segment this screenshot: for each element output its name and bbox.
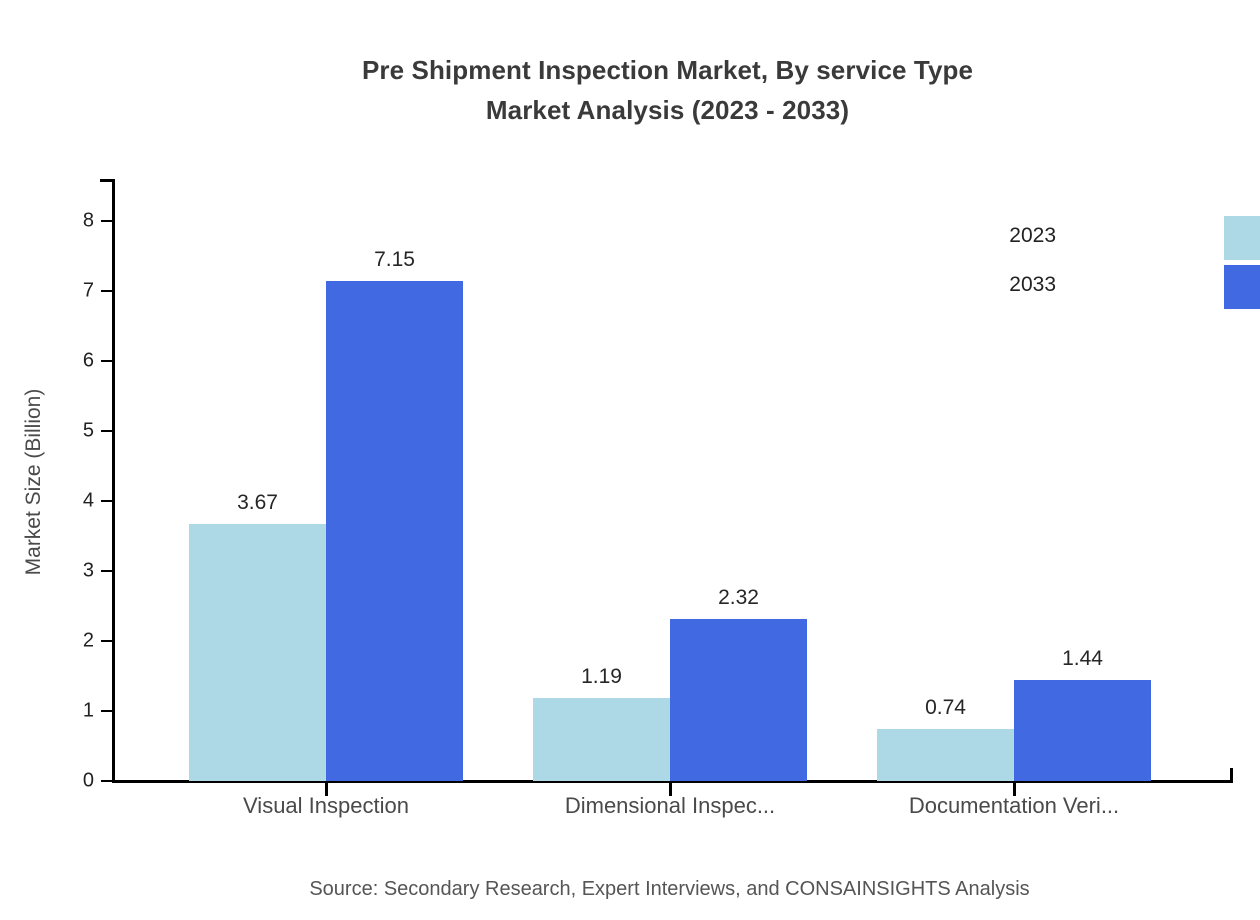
chart-title-line-1: Pre Shipment Inspection Market, By servi…	[0, 50, 1260, 90]
y-axis-line	[112, 179, 115, 783]
x-axis-category-label: Documentation Veri...	[909, 793, 1119, 819]
y-axis-tick	[101, 570, 113, 572]
bar-2033-2[interactable]	[670, 619, 807, 781]
source-note: Source: Secondary Research, Expert Inter…	[0, 878, 1260, 901]
y-axis-tick-label: 3	[34, 560, 94, 583]
y-axis-tick	[101, 430, 113, 432]
y-axis-tick	[101, 640, 113, 642]
legend-label: 2023	[1009, 224, 1056, 248]
y-axis-tick	[101, 500, 113, 502]
y-axis-top-cap	[100, 179, 115, 182]
y-axis-tick	[101, 290, 113, 292]
bar-2033-1[interactable]	[326, 281, 463, 782]
y-axis-tick	[101, 360, 113, 362]
bar-value-label: 0.74	[925, 696, 966, 720]
y-axis-tick-label: 0	[34, 770, 94, 793]
y-axis-tick	[101, 220, 113, 222]
chart-title-line-2: Market Analysis (2023 - 2033)	[0, 90, 1260, 130]
y-axis-tick-label: 2	[34, 630, 94, 653]
chart-canvas: Pre Shipment Inspection Market, By servi…	[0, 0, 1260, 920]
x-axis-category-label: Dimensional Inspec...	[565, 793, 775, 819]
legend-label: 2033	[1009, 273, 1056, 297]
y-axis-tick-label: 6	[34, 350, 94, 373]
y-axis-tick-label: 4	[34, 490, 94, 513]
bar-2023-1[interactable]	[189, 524, 326, 781]
y-axis-tick-label: 7	[34, 280, 94, 303]
bar-2023-3[interactable]	[877, 729, 1014, 781]
y-axis-tick	[101, 780, 113, 782]
bar-value-label: 3.67	[237, 491, 278, 515]
bar-value-label: 1.44	[1062, 647, 1103, 671]
bar-2033-3[interactable]	[1014, 680, 1151, 781]
bar-2023-2[interactable]	[533, 698, 670, 781]
y-axis-tick-label: 5	[34, 420, 94, 443]
chart-title: Pre Shipment Inspection Market, By servi…	[0, 50, 1260, 130]
y-axis-tick-label: 8	[34, 210, 94, 233]
legend-swatch	[1224, 216, 1260, 260]
y-axis-tick	[101, 710, 113, 712]
legend-swatch	[1224, 265, 1260, 309]
bar-value-label: 7.15	[374, 248, 415, 272]
x-axis-right-cap	[1230, 768, 1233, 783]
x-axis-category-label: Visual Inspection	[243, 793, 409, 819]
bar-value-label: 2.32	[718, 586, 759, 610]
bar-value-label: 1.19	[581, 665, 622, 689]
y-axis-tick-label: 1	[34, 700, 94, 723]
